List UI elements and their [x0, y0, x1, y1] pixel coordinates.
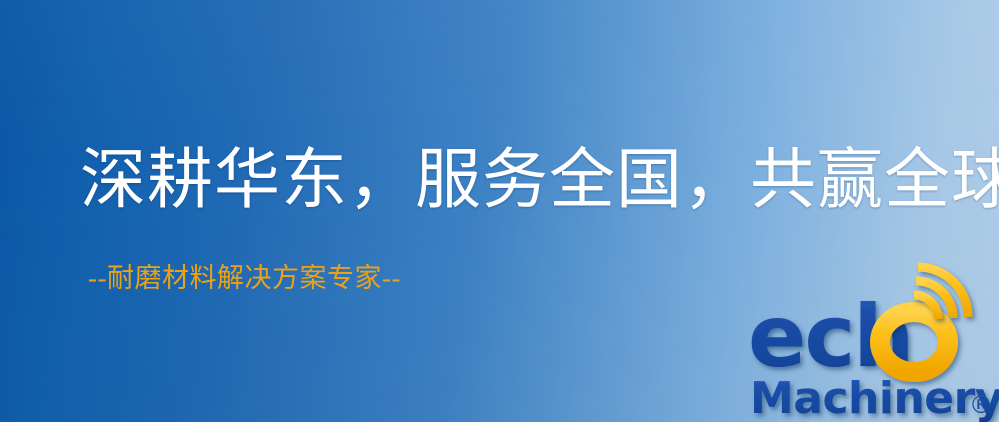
hero-banner: 深耕华东，服务全国，共赢全球 --耐磨材料解决方案专家-- [0, 0, 999, 422]
page-subtitle: --耐磨材料解决方案专家-- [88, 264, 401, 294]
svg-text:Machinery: Machinery [750, 373, 999, 422]
echo-machinery-logo[interactable]: ech Machinery ® [748, 296, 999, 422]
page-headline: 深耕华东，服务全国，共赢全球 [80, 146, 999, 215]
registered-trademark-icon: ® [969, 391, 993, 419]
logo-tagline-machinery: Machinery ® [750, 373, 999, 422]
